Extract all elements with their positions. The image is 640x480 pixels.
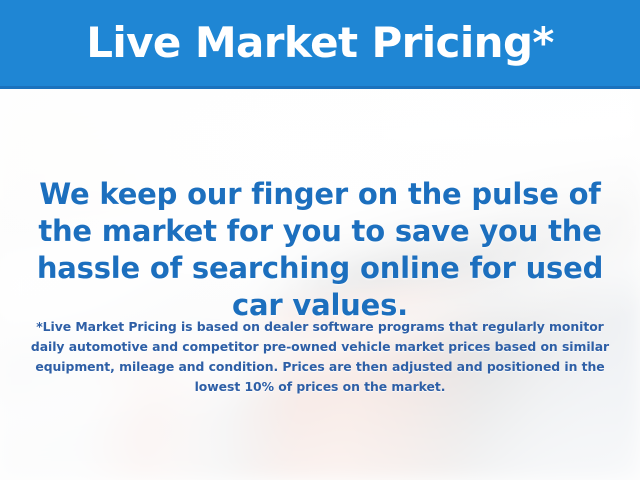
content-area: We keep our finger on the pulse of the m… xyxy=(0,89,640,480)
headline-text: We keep our finger on the pulse of the m… xyxy=(22,176,618,324)
page-title: Live Market Pricing* xyxy=(86,22,554,68)
live-market-pricing-banner: Live Market Pricing* We keep our finger … xyxy=(0,0,640,480)
header-banner: Live Market Pricing* xyxy=(0,0,640,89)
disclaimer-text: *Live Market Pricing is based on dealer … xyxy=(28,317,612,397)
